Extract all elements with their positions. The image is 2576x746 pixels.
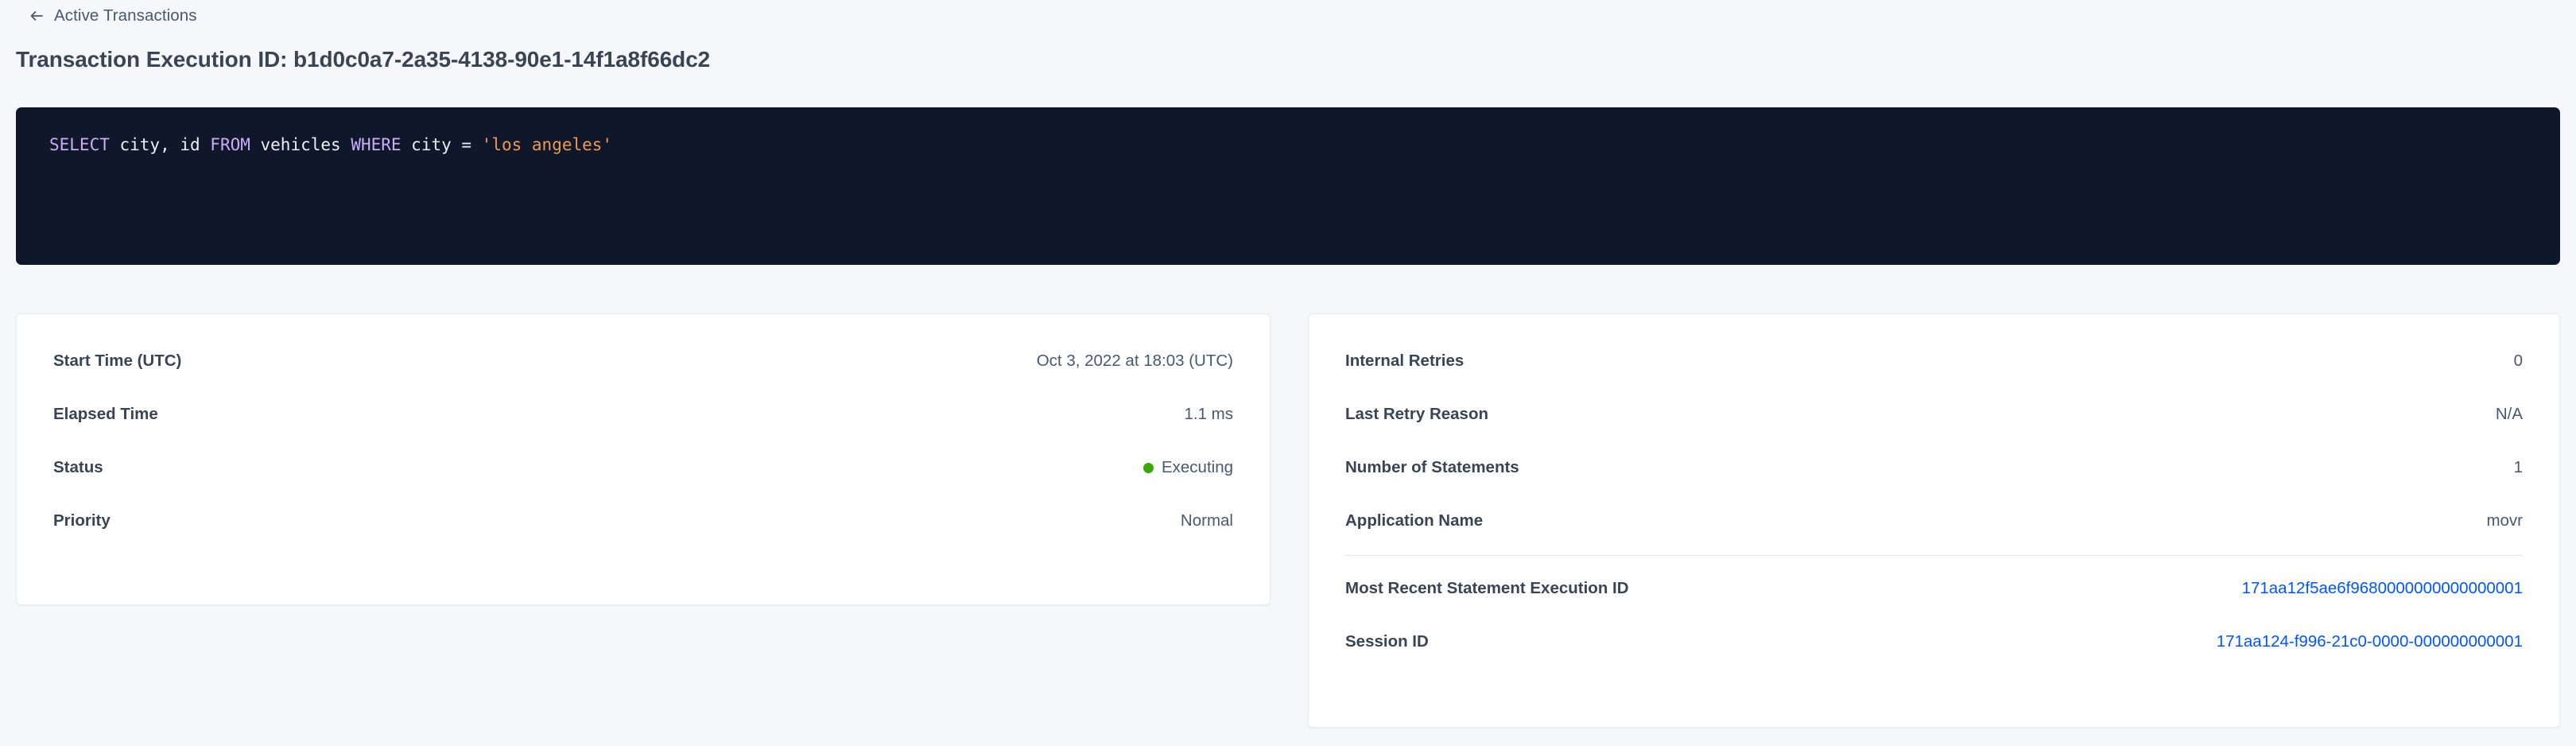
session-id-link[interactable]: 171aa124-f996-21c0-0000-000000000001: [2217, 634, 2523, 651]
row-number-of-statements: Number of Statements 1: [1345, 441, 2523, 495]
sql-statement-block: SELECT city, id FROM vehicles WHERE city…: [16, 107, 2560, 265]
row-status: Status Executing: [53, 441, 1233, 495]
row-value: 1: [2514, 460, 2523, 476]
row-label: Priority: [53, 513, 111, 530]
sql-operator: =: [461, 135, 481, 154]
sql-predicate-column: city: [402, 135, 462, 154]
transaction-details-page: Active Transactions Transaction Executio…: [0, 0, 2576, 746]
sql-columns: city, id: [110, 135, 210, 154]
row-label: Last Retry Reason: [1345, 406, 1488, 423]
row-most-recent-statement-execution-id: Most Recent Statement Execution ID 171aa…: [1345, 562, 2523, 616]
row-label: Most Recent Statement Execution ID: [1345, 581, 1629, 597]
transaction-overview-card: Start Time (UTC) Oct 3, 2022 at 18:03 (U…: [16, 313, 1271, 605]
page-title: Transaction Execution ID: b1d0c0a7-2a35-…: [16, 46, 710, 73]
row-value: movr: [2486, 513, 2523, 530]
row-application-name: Application Name movr: [1345, 495, 2523, 548]
sql-string-literal: 'los angeles': [482, 135, 612, 154]
sql-keyword-from: FROM: [210, 135, 250, 154]
row-label: Start Time (UTC): [53, 353, 181, 370]
row-internal-retries: Internal Retries 0: [1345, 335, 2523, 388]
row-label: Elapsed Time: [53, 406, 158, 423]
transaction-statistics-card: Internal Retries 0 Last Retry Reason N/A…: [1308, 313, 2560, 728]
row-session-id: Session ID 171aa124-f996-21c0-0000-00000…: [1345, 616, 2523, 669]
sql-keyword-select: SELECT: [49, 135, 110, 154]
breadcrumb-label: Active Transactions: [54, 8, 197, 25]
status-badge: Executing: [1143, 460, 1233, 476]
row-label: Number of Statements: [1345, 460, 1519, 476]
status-dot-icon: [1143, 463, 1154, 473]
row-value: Normal: [1181, 513, 1233, 530]
row-label: Session ID: [1345, 634, 1429, 651]
statement-execution-id-link[interactable]: 171aa12f5ae6f9680000000000000001: [2242, 581, 2523, 597]
row-label: Status: [53, 460, 103, 476]
breadcrumb-back-link[interactable]: Active Transactions: [29, 5, 197, 27]
row-start-time: Start Time (UTC) Oct 3, 2022 at 18:03 (U…: [53, 335, 1233, 388]
status-label: Executing: [1162, 460, 1233, 476]
row-label: Application Name: [1345, 513, 1483, 530]
sql-keyword-where: WHERE: [351, 135, 401, 154]
row-value: Oct 3, 2022 at 18:03 (UTC): [1037, 353, 1233, 370]
row-value: 1.1 ms: [1184, 406, 1233, 423]
sql-table-name: vehicles: [250, 135, 351, 154]
section-divider: [1345, 555, 2523, 556]
arrow-left-icon: [29, 8, 45, 24]
row-priority: Priority Normal: [53, 495, 1233, 548]
row-value: 0: [2514, 353, 2523, 370]
sql-statement-line: SELECT city, id FROM vehicles WHERE city…: [49, 134, 2527, 155]
row-label: Internal Retries: [1345, 353, 1464, 370]
row-value: N/A: [2496, 406, 2523, 423]
row-elapsed-time: Elapsed Time 1.1 ms: [53, 388, 1233, 441]
row-last-retry-reason: Last Retry Reason N/A: [1345, 388, 2523, 441]
